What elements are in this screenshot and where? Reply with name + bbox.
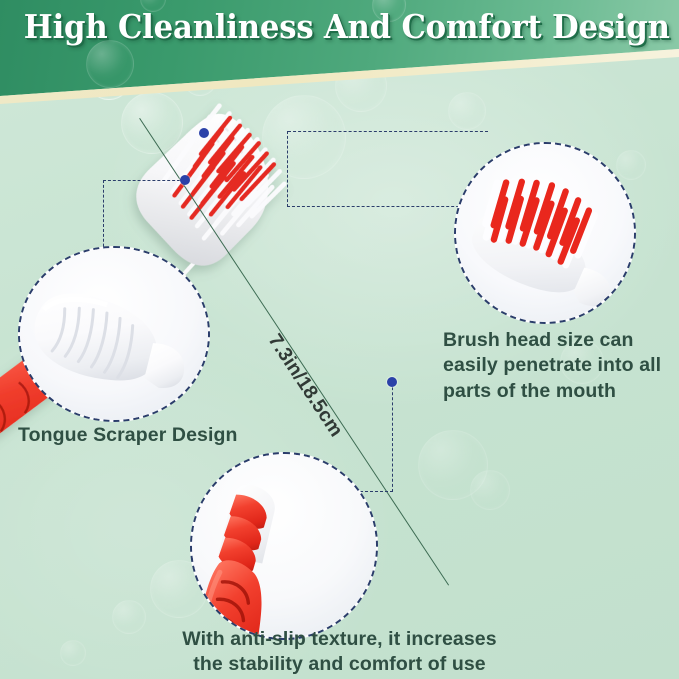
infographic-canvas: High Cleanliness And Comfort Design xyxy=(0,0,679,679)
callout-line-grip xyxy=(392,382,393,492)
callout-dot-scraper xyxy=(180,175,190,185)
callout-line-scraper-top xyxy=(103,180,185,181)
caption-brush-head-line1: Brush head size can xyxy=(443,329,633,351)
callout-dot-grip xyxy=(387,377,397,387)
grip-closeup-inset xyxy=(190,452,378,640)
caption-anti-slip-line1: With anti-slip texture, it increases xyxy=(0,627,679,652)
bristle-closeup-inset xyxy=(454,142,636,324)
caption-tongue-scraper: Tongue Scraper Design xyxy=(18,423,238,448)
caption-anti-slip-line2: the stability and comfort of use xyxy=(0,652,679,677)
callout-dot-head-top xyxy=(199,128,209,138)
caption-brush-head-line2: easily penetrate into xyxy=(443,354,634,376)
caption-anti-slip: With anti-slip texture, it increases the… xyxy=(0,627,679,678)
tongue-scraper-inset xyxy=(18,246,210,422)
caption-brush-head: Brush head size can easily penetrate int… xyxy=(443,328,679,404)
callout-line-head-top xyxy=(288,131,488,132)
callout-line-head-right xyxy=(287,131,288,207)
